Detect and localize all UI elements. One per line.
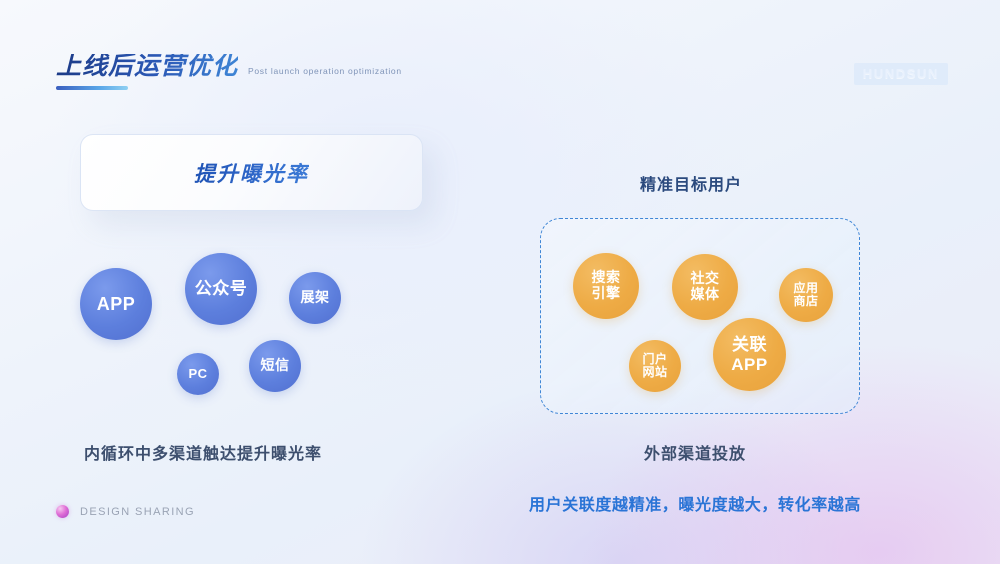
channel-bubble-app-store[interactable]: 应用商店 [779, 268, 833, 322]
bubble-label: 商店 [793, 295, 818, 308]
page-title: 上线后运营优化 [56, 54, 238, 79]
page-subtitle: Post launch operation optimization [248, 66, 402, 79]
bubble-label: APP [731, 355, 767, 374]
conclusion-highlight: 用户关联度越精准，曝光度越大，转化率越高 [529, 491, 861, 515]
title-row: 上线后运营优化 Post launch operation optimizati… [56, 54, 402, 79]
bubble-label: 媒体 [691, 287, 720, 303]
channel-bubble-display-rack[interactable]: 展架 [289, 272, 341, 324]
exposure-card-label: 提升曝光率 [194, 158, 309, 188]
channel-bubble-portal-site[interactable]: 门户网站 [629, 340, 681, 392]
slide-canvas: 上线后运营优化 Post launch operation optimizati… [0, 0, 1000, 564]
bubble-label: PC [188, 367, 207, 382]
brand-logo: HUNDSUN [854, 63, 948, 85]
bubble-label: 应用 [793, 282, 818, 295]
right-caption: 外部渠道投放 [644, 440, 746, 464]
footer: DESIGN SHARING [56, 505, 195, 518]
target-user-group-title: 精准目标用户 [640, 171, 742, 195]
channel-bubble-app[interactable]: APP [80, 268, 152, 340]
left-caption: 内循环中多渠道触达提升曝光率 [84, 440, 322, 464]
sphere-icon [56, 505, 69, 518]
channel-bubble-official-account[interactable]: 公众号 [185, 253, 257, 325]
channel-bubble-pc[interactable]: PC [177, 353, 219, 395]
bubble-label: 公众号 [195, 279, 248, 298]
exposure-card: 提升曝光率 [80, 134, 423, 211]
bubble-label: APP [97, 294, 136, 314]
bubble-label: 网站 [642, 366, 667, 379]
bubble-label: 搜索 [592, 270, 621, 286]
title-underline-bar [56, 86, 128, 90]
bubble-label: 引擎 [592, 286, 621, 302]
bubble-label: 展架 [301, 290, 330, 306]
channel-bubble-social-media[interactable]: 社交媒体 [672, 254, 738, 320]
slide-header: 上线后运营优化 Post launch operation optimizati… [56, 54, 402, 90]
channel-bubble-search-engine[interactable]: 搜索引擎 [573, 253, 639, 319]
channel-bubble-sms[interactable]: 短信 [249, 340, 301, 392]
bubble-label: 社交 [691, 271, 720, 287]
bubble-label: 短信 [261, 358, 290, 374]
bubble-label: 门户 [642, 353, 667, 366]
channel-bubble-related-app[interactable]: 关联APP [713, 318, 786, 391]
bubble-label: 关联 [732, 335, 767, 354]
footer-label: DESIGN SHARING [80, 506, 195, 518]
